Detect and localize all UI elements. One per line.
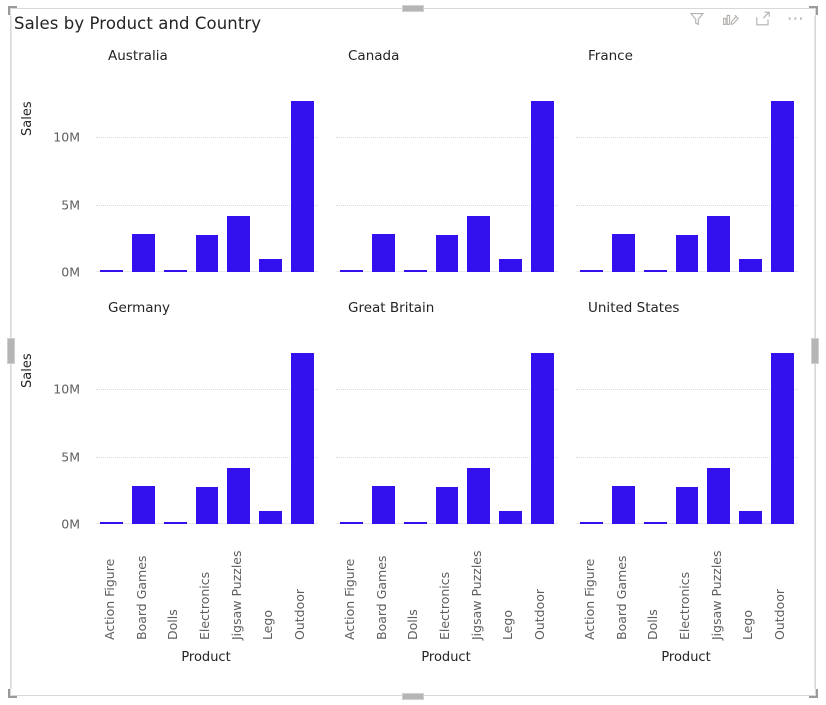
page-title: Sales by Product and Country xyxy=(14,14,261,33)
resize-grip-bottom[interactable] xyxy=(402,693,424,700)
bar[interactable] xyxy=(404,522,427,524)
bar[interactable] xyxy=(227,468,250,524)
y-tick-label: 10M xyxy=(53,382,80,397)
plot-box xyxy=(576,338,798,524)
gridline xyxy=(336,457,558,458)
x-tick-label: Action Figure xyxy=(342,559,357,640)
bar[interactable] xyxy=(340,522,363,524)
bar[interactable] xyxy=(132,486,155,524)
x-tick-label: Board Games xyxy=(374,556,389,640)
x-axis-labels: Action FigureBoard GamesDollsElectronics… xyxy=(336,530,558,640)
bar[interactable] xyxy=(499,259,522,272)
facet-panel: France xyxy=(566,40,806,290)
gridline xyxy=(96,137,318,138)
facet-title: Australia xyxy=(108,48,168,64)
x-axis-labels: Action FigureBoard GamesDollsElectronics… xyxy=(576,530,798,640)
resize-handle-bottom-left[interactable] xyxy=(8,689,17,698)
bar[interactable] xyxy=(771,353,794,524)
gridline xyxy=(576,389,798,390)
more-options-icon[interactable]: ⋯ xyxy=(786,9,806,29)
y-axis: Sales0M5M10M xyxy=(14,292,86,542)
bar[interactable] xyxy=(436,487,459,524)
bar[interactable] xyxy=(707,468,730,524)
bar[interactable] xyxy=(612,486,635,524)
panel-row-0: Sales0M5M10MAustraliaCanadaFrance xyxy=(14,40,812,290)
gridline xyxy=(336,389,558,390)
panel-row-1: Sales0M5M10MGermanyAction FigureBoard Ga… xyxy=(14,292,812,542)
plot-box xyxy=(576,86,798,272)
y-tick-label: 5M xyxy=(61,449,80,464)
x-tick-label: Board Games xyxy=(134,556,149,640)
bar[interactable] xyxy=(259,259,282,272)
x-tick-label: Lego xyxy=(500,610,515,640)
facet-panel: Great BritainAction FigureBoard GamesDol… xyxy=(326,292,566,542)
x-tick-label: Lego xyxy=(740,610,755,640)
personalize-visual-icon[interactable] xyxy=(720,9,740,29)
y-axis-title: Sales xyxy=(20,353,35,388)
x-tick-label: Electronics xyxy=(197,572,212,640)
gridline xyxy=(96,205,318,206)
bar[interactable] xyxy=(100,270,123,272)
bar[interactable] xyxy=(372,234,395,272)
visual-header: Sales by Product and Country xyxy=(14,8,812,38)
bar[interactable] xyxy=(644,522,667,524)
header-actions: ⋯ xyxy=(687,9,806,29)
x-tick-label: Electronics xyxy=(677,572,692,640)
bar[interactable] xyxy=(676,235,699,272)
plot-box xyxy=(336,86,558,272)
facet-title: Great Britain xyxy=(348,300,434,316)
gridline xyxy=(336,205,558,206)
bar[interactable] xyxy=(100,522,123,524)
x-tick-label: Outdoor xyxy=(292,589,307,640)
facet-panel: United StatesAction FigureBoard GamesDol… xyxy=(566,292,806,542)
bar[interactable] xyxy=(132,234,155,272)
bar[interactable] xyxy=(467,216,490,272)
bar[interactable] xyxy=(644,270,667,272)
bar[interactable] xyxy=(259,511,282,524)
x-tick-label: Dolls xyxy=(165,609,180,640)
y-tick-label: 0M xyxy=(61,265,80,280)
x-tick-label: Lego xyxy=(260,610,275,640)
bar[interactable] xyxy=(404,270,427,272)
bar[interactable] xyxy=(771,101,794,272)
bar[interactable] xyxy=(196,487,219,524)
bar[interactable] xyxy=(164,270,187,272)
bar[interactable] xyxy=(291,353,314,524)
resize-grip-right[interactable] xyxy=(811,338,819,364)
gridline xyxy=(336,137,558,138)
bar[interactable] xyxy=(739,259,762,272)
bar[interactable] xyxy=(580,522,603,524)
resize-handle-bottom-right[interactable] xyxy=(809,689,818,698)
x-tick-label: Dolls xyxy=(645,609,660,640)
x-tick-label: Jigsaw Puzzles xyxy=(469,550,484,640)
x-tick-label: Outdoor xyxy=(532,589,547,640)
gridline xyxy=(576,205,798,206)
facet-title: Canada xyxy=(348,48,399,64)
bar[interactable] xyxy=(580,270,603,272)
bar[interactable] xyxy=(340,270,363,272)
facet-panel: Australia xyxy=(86,40,326,290)
x-tick-label: Board Games xyxy=(614,556,629,640)
y-tick-label: 10M xyxy=(53,130,80,145)
bar[interactable] xyxy=(372,486,395,524)
bar[interactable] xyxy=(531,353,554,524)
bar[interactable] xyxy=(227,216,250,272)
y-tick-label: 0M xyxy=(61,517,80,532)
x-axis-title: Product xyxy=(86,650,326,665)
bar[interactable] xyxy=(531,101,554,272)
bar[interactable] xyxy=(436,235,459,272)
gridline xyxy=(96,389,318,390)
bar[interactable] xyxy=(739,511,762,524)
facet-panel: GermanyAction FigureBoard GamesDollsElec… xyxy=(86,292,326,542)
x-tick-label: Action Figure xyxy=(102,559,117,640)
x-tick-label: Outdoor xyxy=(772,589,787,640)
facet-title: France xyxy=(588,48,633,64)
filter-icon[interactable] xyxy=(687,9,707,29)
y-axis-title: Sales xyxy=(20,101,35,136)
bar[interactable] xyxy=(499,511,522,524)
gridline xyxy=(96,457,318,458)
plot-box xyxy=(336,338,558,524)
focus-mode-icon[interactable] xyxy=(753,9,773,29)
bar[interactable] xyxy=(612,234,635,272)
bar[interactable] xyxy=(164,522,187,524)
visual-container: Sales by Product and Country xyxy=(0,0,826,705)
more-options-glyph: ⋯ xyxy=(787,14,805,24)
bar[interactable] xyxy=(196,235,219,272)
y-tick-label: 5M xyxy=(61,197,80,212)
x-axis-labels: Action FigureBoard GamesDollsElectronics… xyxy=(96,530,318,640)
facet-title: United States xyxy=(588,300,679,316)
facet-panel: Canada xyxy=(326,40,566,290)
bar[interactable] xyxy=(707,216,730,272)
plot-box xyxy=(96,338,318,524)
bar[interactable] xyxy=(291,101,314,272)
x-tick-label: Jigsaw Puzzles xyxy=(709,550,724,640)
gridline xyxy=(576,457,798,458)
x-tick-label: Action Figure xyxy=(582,559,597,640)
small-multiples-grid: Sales0M5M10MAustraliaCanadaFranceSales0M… xyxy=(14,40,812,690)
x-tick-label: Electronics xyxy=(437,572,452,640)
y-axis: Sales0M5M10M xyxy=(14,40,86,290)
x-axis-title: Product xyxy=(566,650,806,665)
x-axis-title: Product xyxy=(326,650,566,665)
bar[interactable] xyxy=(467,468,490,524)
x-tick-label: Dolls xyxy=(405,609,420,640)
x-tick-label: Jigsaw Puzzles xyxy=(229,550,244,640)
plot-box xyxy=(96,86,318,272)
gridline xyxy=(576,137,798,138)
facet-title: Germany xyxy=(108,300,170,316)
bar[interactable] xyxy=(676,487,699,524)
